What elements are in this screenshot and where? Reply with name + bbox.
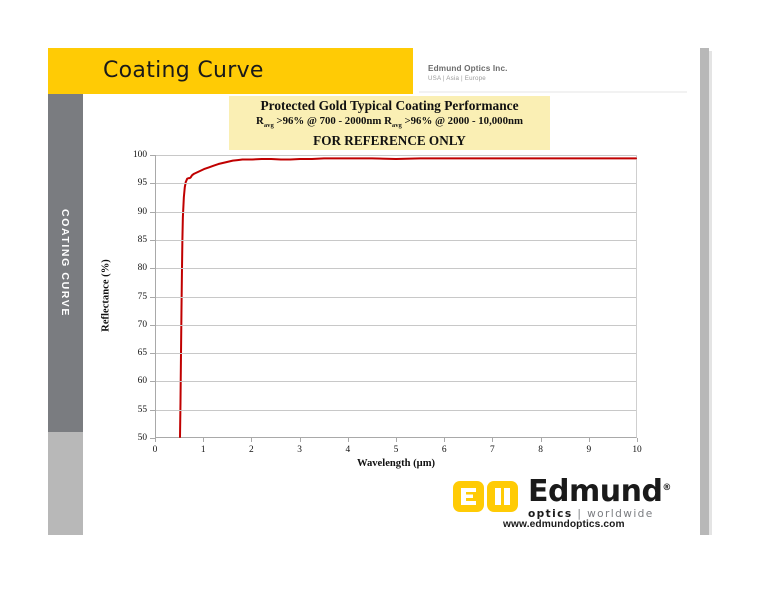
y-tick-label: 100 <box>107 150 147 160</box>
coating-curve-chart: Reflectance (%) Wavelength (μm) 50556065… <box>110 140 655 470</box>
x-tick-label: 8 <box>526 445 556 455</box>
logo-brand: Edmund® <box>528 474 671 506</box>
chart-title-line1: Protected Gold Typical Coating Performan… <box>229 98 550 114</box>
y-tick-label: 95 <box>107 178 147 188</box>
x-tick-label: 5 <box>381 445 411 455</box>
x-tick-mark <box>396 438 397 442</box>
chart-title-line2: Ravg >96% @ 700 - 2000nm Ravg >96% @ 200… <box>229 114 550 133</box>
x-tick-label: 3 <box>285 445 315 455</box>
right-band-shadow <box>709 51 712 535</box>
y-tick-mark <box>150 325 155 326</box>
y-tick-label: 85 <box>107 235 147 245</box>
x-tick-label: 10 <box>622 445 652 455</box>
gridline <box>156 268 636 269</box>
y-tick-mark <box>150 183 155 184</box>
logo-row: Edmund® optics | worldwide <box>452 474 671 520</box>
x-tick-mark <box>348 438 349 442</box>
y-tick-mark <box>150 240 155 241</box>
x-tick-mark <box>541 438 542 442</box>
series-line <box>180 158 636 437</box>
logo-url[interactable]: www.edmundoptics.com <box>503 519 625 530</box>
gridline <box>156 183 636 184</box>
x-tick-mark <box>300 438 301 442</box>
x-tick-mark <box>444 438 445 442</box>
y-tick-label: 60 <box>107 376 147 386</box>
company-name: Edmund Optics Inc. <box>428 64 508 73</box>
x-tick-label: 2 <box>236 445 266 455</box>
gridline <box>156 155 636 156</box>
gridline <box>156 240 636 241</box>
eo-mark-icon <box>452 479 522 515</box>
logo-brand-text: Edmund <box>528 474 662 509</box>
x-axis-label: Wavelength (μm) <box>155 458 637 469</box>
trademark-icon: ® <box>662 483 671 493</box>
sidebar-item-coating-curve: COATING CURVE <box>48 94 83 432</box>
r-avg-1: R <box>256 115 264 127</box>
x-tick-label: 4 <box>333 445 363 455</box>
x-tick-mark <box>589 438 590 442</box>
y-tick-label: 75 <box>107 292 147 302</box>
y-tick-mark <box>150 410 155 411</box>
edmund-optics-logo[interactable]: Edmund® optics | worldwide <box>452 474 671 520</box>
company-regions: USA | Asia | Europe <box>428 75 508 82</box>
plot-area <box>155 155 637 438</box>
gridline <box>156 297 636 298</box>
y-tick-mark <box>150 297 155 298</box>
gridline <box>156 410 636 411</box>
x-tick-mark <box>251 438 252 442</box>
x-tick-mark <box>155 438 156 442</box>
x-tick-mark <box>203 438 204 442</box>
x-tick-mark <box>637 438 638 442</box>
logo-wordmark: Edmund® optics | worldwide <box>528 474 671 520</box>
y-tick-mark <box>150 155 155 156</box>
x-tick-label: 1 <box>188 445 218 455</box>
header-company-block: Edmund Optics Inc. USA | Asia | Europe <box>428 64 508 82</box>
sidebar-light-panel <box>48 432 83 535</box>
r-avg-sub-2: avg <box>392 122 402 129</box>
y-tick-mark <box>150 268 155 269</box>
spec-range-2: >96% @ 2000 - 10,000nm <box>402 115 523 127</box>
gridline <box>156 353 636 354</box>
y-tick-label: 65 <box>107 348 147 358</box>
x-tick-label: 6 <box>429 445 459 455</box>
y-tick-label: 50 <box>107 433 147 443</box>
y-tick-mark <box>150 212 155 213</box>
x-tick-label: 7 <box>477 445 507 455</box>
y-tick-label: 90 <box>107 207 147 217</box>
y-tick-label: 80 <box>107 263 147 273</box>
y-tick-mark <box>150 353 155 354</box>
y-tick-label: 55 <box>107 405 147 415</box>
spec-range-1: >96% @ 700 - 2000nm R <box>274 115 392 127</box>
x-tick-label: 0 <box>140 445 170 455</box>
header-divider <box>419 91 687 93</box>
x-tick-mark <box>492 438 493 442</box>
gridline <box>156 325 636 326</box>
x-tick-label: 9 <box>574 445 604 455</box>
gridline <box>156 381 636 382</box>
gridline <box>156 212 636 213</box>
r-avg-sub-1: avg <box>264 122 274 129</box>
y-tick-label: 70 <box>107 320 147 330</box>
page-title: Coating Curve <box>103 58 264 83</box>
y-tick-mark <box>150 381 155 382</box>
